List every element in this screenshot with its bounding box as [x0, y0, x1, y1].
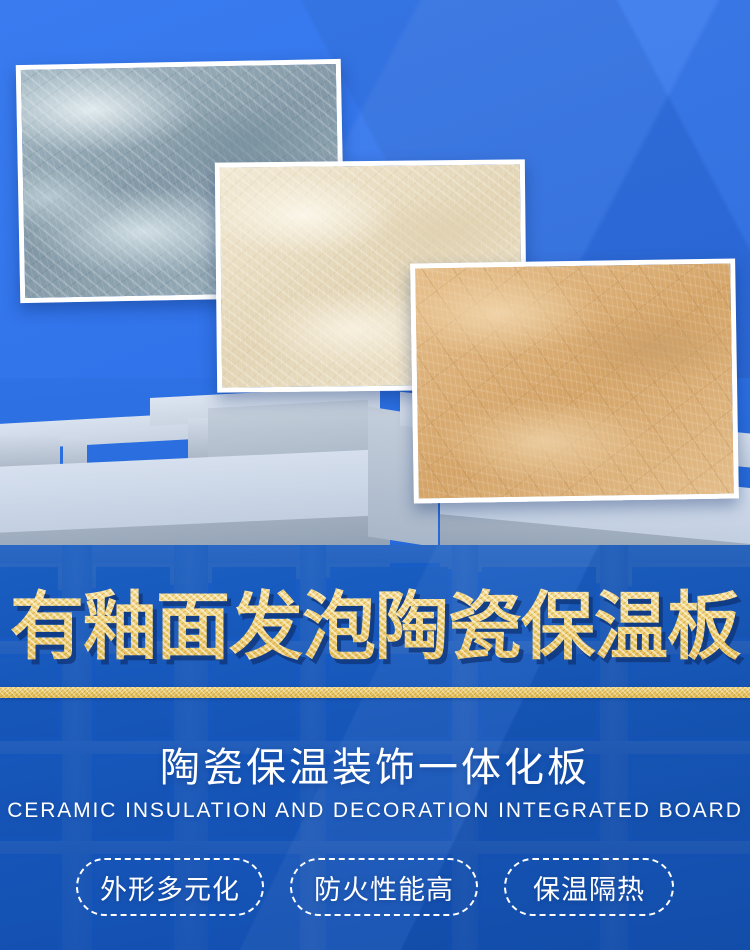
gold-divider	[0, 687, 750, 698]
tile-texture	[415, 264, 734, 499]
subtitle-chinese: 陶瓷保温装饰一体化板	[0, 744, 750, 792]
feature-badge-list: 外形多元化 防火性能高 保温隔热	[0, 858, 750, 916]
subtitle-english: CERAMIC INSULATION AND DECORATION INTEGR…	[0, 798, 750, 824]
feature-badge-fire-resistance[interactable]: 防火性能高	[290, 858, 478, 916]
feature-badge-shape-variety[interactable]: 外形多元化	[76, 858, 264, 916]
product-promo-banner: 有釉面发泡陶瓷保温板 陶瓷保温装饰一体化板 CERAMIC INSULATION…	[0, 0, 750, 950]
sample-tile-tan-amber-marble[interactable]	[410, 258, 739, 503]
feature-badge-thermal-insulation[interactable]: 保温隔热	[504, 858, 674, 916]
headline-title: 有釉面发泡陶瓷保温板	[0, 586, 750, 668]
